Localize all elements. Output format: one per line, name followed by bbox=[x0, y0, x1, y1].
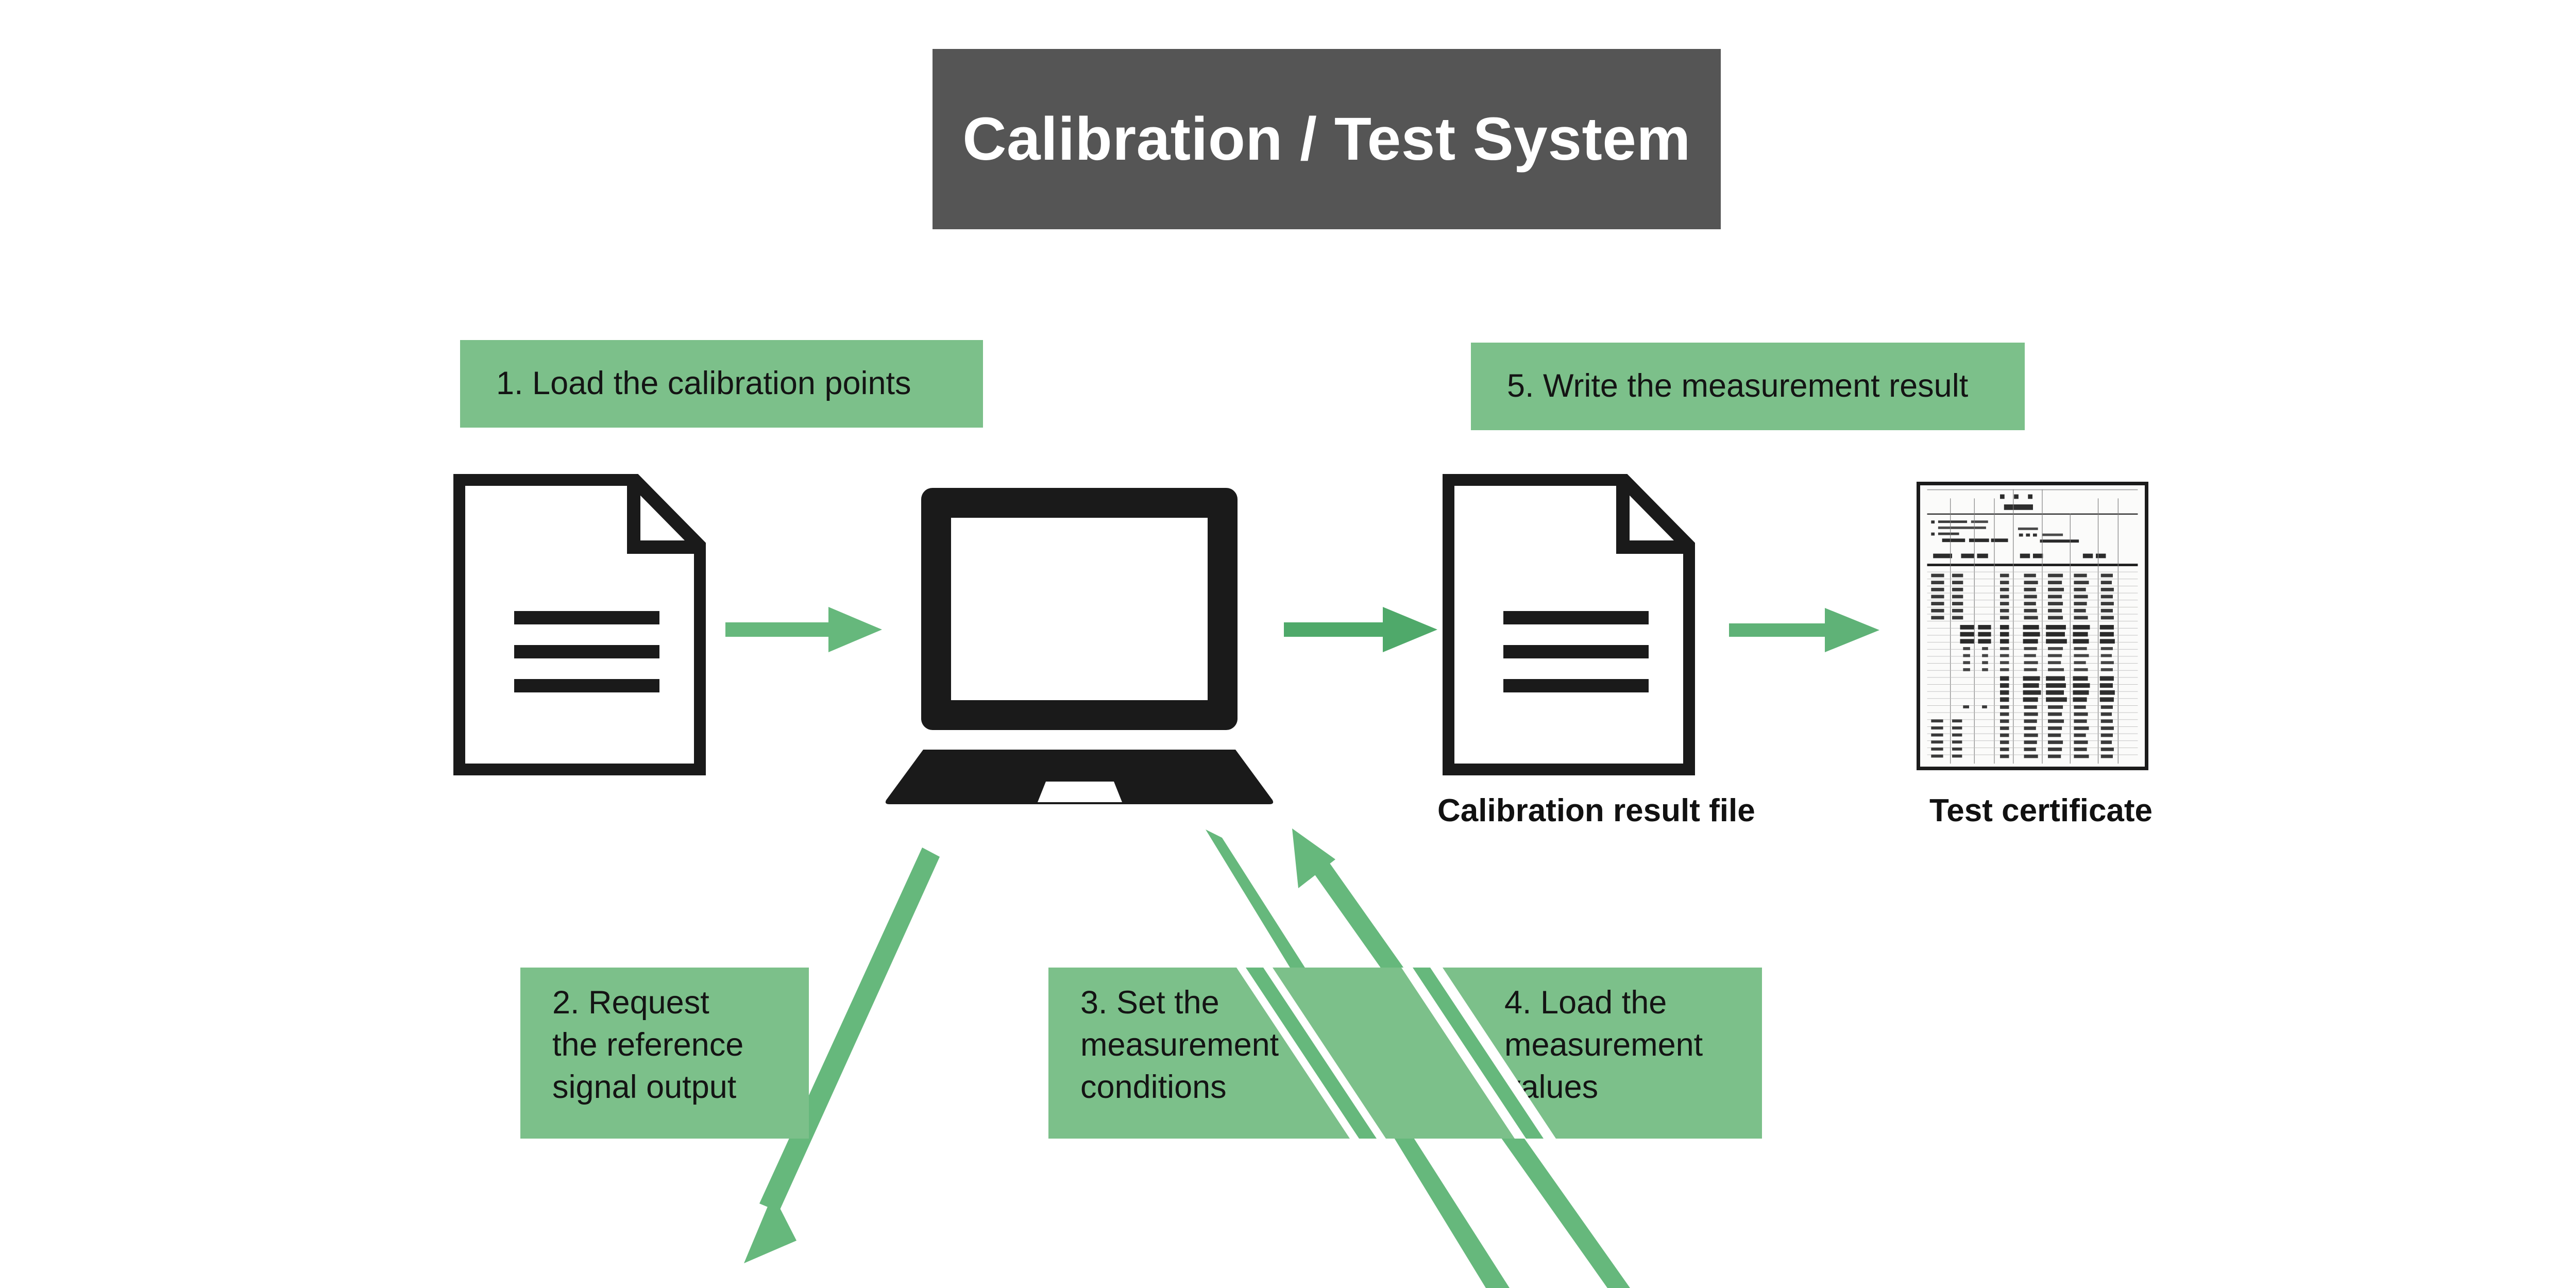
certificate-table-scan bbox=[1920, 485, 2145, 767]
arrow-points-file-to-laptop bbox=[725, 607, 882, 652]
document-line-2 bbox=[1503, 645, 1649, 658]
step-5-label-box: 5. Write the measurement result bbox=[1471, 343, 2025, 430]
document-outline bbox=[459, 479, 701, 770]
step-1-label: 1. Load the calibration points bbox=[496, 363, 911, 405]
title-banner: Calibration / Test System bbox=[933, 49, 1721, 229]
step-4-label-box: 4. Load the measurement values bbox=[1504, 968, 1762, 1139]
laptop-icon bbox=[876, 477, 1283, 806]
step-2-label-box: 2. Request the reference signal output bbox=[520, 968, 809, 1139]
test-certificate-icon bbox=[1917, 482, 2148, 770]
arrow-laptop-to-result-file bbox=[1284, 607, 1437, 652]
arrow-result-file-to-certificate bbox=[1729, 608, 1879, 652]
calibration-result-file-icon bbox=[1443, 474, 1695, 775]
calibration-points-file-icon bbox=[453, 474, 706, 775]
step-2-label: 2. Request the reference signal output bbox=[552, 982, 743, 1109]
document-line-1 bbox=[1503, 611, 1649, 624]
step-3-label-box: 3. Set the measurement conditions bbox=[1048, 968, 1337, 1139]
laptop-screen bbox=[951, 518, 1208, 700]
document-line-3 bbox=[514, 679, 659, 692]
document-line-3 bbox=[1503, 679, 1649, 692]
calibration-result-file-caption: Calibration result file bbox=[1437, 792, 1755, 829]
step-5-label: 5. Write the measurement result bbox=[1507, 365, 1968, 408]
step-4-label: 4. Load the measurement values bbox=[1504, 982, 1703, 1109]
step-3-label: 3. Set the measurement conditions bbox=[1080, 982, 1279, 1109]
laptop-trackpad-notch bbox=[1038, 782, 1122, 802]
document-outline bbox=[1448, 479, 1690, 770]
step-1-label-box: 1. Load the calibration points bbox=[460, 340, 983, 428]
document-line-1 bbox=[514, 611, 659, 624]
page-title: Calibration / Test System bbox=[962, 109, 1691, 170]
diagram-canvas: Calibration / Test System bbox=[0, 0, 2576, 1288]
certificate-frame bbox=[1917, 482, 2148, 770]
document-line-2 bbox=[514, 645, 659, 658]
test-certificate-caption: Test certificate bbox=[1929, 792, 2153, 829]
